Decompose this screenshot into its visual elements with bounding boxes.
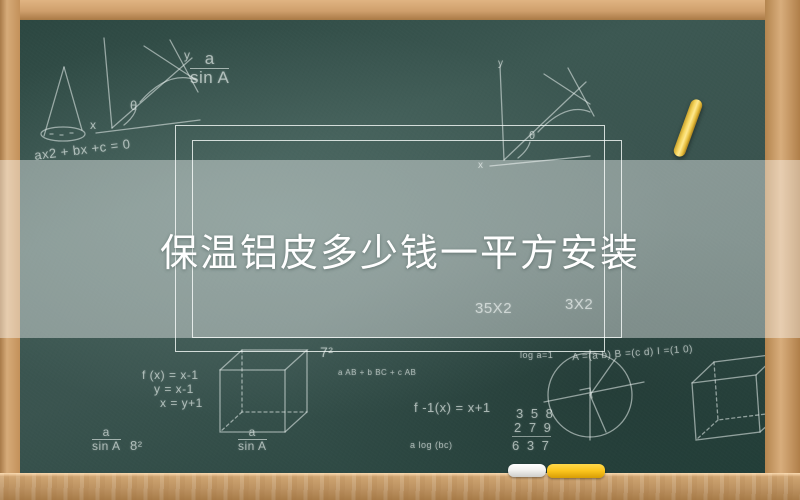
chalk-log-bc: a log (bc) — [410, 440, 453, 450]
chalk-ledge-lip — [0, 473, 800, 477]
fraction-numerator: a — [190, 50, 229, 68]
fraction-numerator: a — [238, 426, 267, 439]
ledge-yellow-chalk[interactable] — [547, 464, 605, 478]
chalk-fx-line-2: y = x-1 — [154, 382, 194, 396]
chalk-fx-line-3: x = y+1 — [160, 396, 203, 410]
chalk-quadratic-equation: ax2 + bx +c = 0 — [33, 136, 131, 163]
chalk-ledge — [0, 473, 800, 500]
chalk-axis-x-label: x — [90, 118, 97, 132]
chalk-fx-line-1: f (x) = x-1 — [142, 368, 199, 382]
chalk-fraction-a-sina: a sin A — [190, 50, 229, 87]
chalk-sum-row-2: 2 7 9 — [514, 420, 553, 435]
chalk-sum-row-1: 3 5 8 — [516, 406, 555, 421]
chalk-sum-row-3: 6 3 7 — [512, 436, 551, 453]
chalk-fraction-a-sina-2: a sin A — [92, 426, 121, 452]
chalk-axis-y-label: y — [184, 48, 191, 62]
chalk-inverse-function: f -1(x) = x+1 — [414, 400, 491, 415]
chalk-right-axis-y: y — [498, 58, 504, 69]
chalk-misc-expression: a AB + b BC + c AB — [338, 368, 416, 377]
fraction-denominator: sin A — [238, 439, 267, 453]
fraction-denominator: sin A — [92, 439, 121, 453]
page-title: 保温铝皮多少钱一平方安装 — [0, 222, 800, 277]
chalk-eight-squared: 8² — [130, 438, 143, 453]
fraction-denominator: sin A — [190, 68, 229, 87]
fraction-numerator: a — [92, 426, 121, 439]
ledge-white-chalk[interactable] — [508, 464, 546, 477]
chalk-fraction-a-sina-3: a sin A — [238, 426, 267, 452]
chalk-angle-label: θ — [130, 98, 138, 113]
chalkboard-banner: y x θ a sin A ax2 + bx +c = 0 y x θ 35X2… — [0, 0, 800, 500]
floating-yellow-chalk[interactable] — [672, 98, 704, 158]
frame-top-edge — [0, 0, 800, 20]
